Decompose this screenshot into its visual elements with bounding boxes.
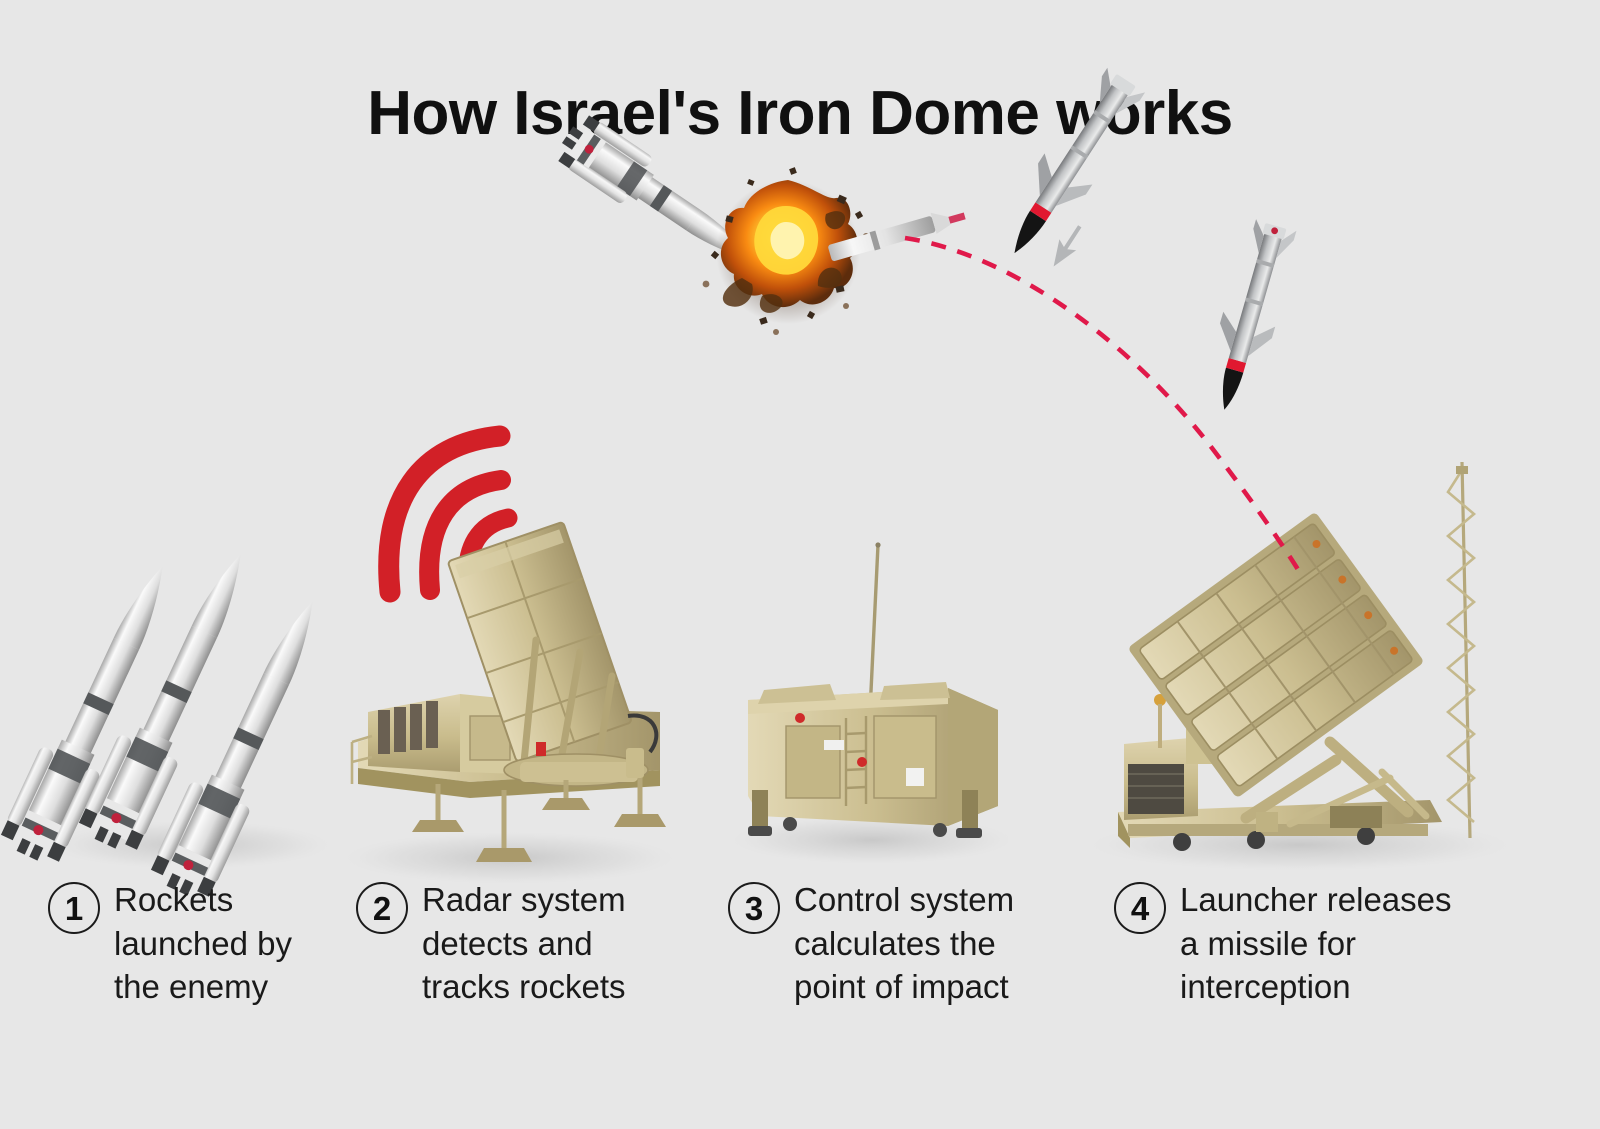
caption-row: 1 Rockets launched by the enemy 2 Radar … — [0, 878, 1600, 1048]
control-antenna-mast — [870, 545, 878, 712]
radar-outrigger-pad — [614, 814, 666, 827]
control-label-plate — [824, 740, 844, 750]
trajectory-direction-arrow — [1045, 221, 1088, 272]
caption-text: Control system calculates the point of i… — [794, 878, 1014, 1009]
caption-number-badge: 4 — [1114, 882, 1166, 934]
caption-text: Launcher releases a missile for intercep… — [1180, 878, 1452, 1009]
control-unit — [748, 542, 998, 838]
radar-outrigger-pad — [476, 848, 532, 862]
caption-number-badge: 3 — [728, 882, 780, 934]
interceptor-trajectory — [905, 238, 1302, 576]
radar-outrigger-pad — [412, 820, 464, 832]
radar-indicator-light — [536, 742, 546, 756]
infographic-canvas: How Israel's Iron Dome works — [0, 0, 1600, 1129]
control-logo-plate — [906, 768, 924, 786]
radar-outrigger-pad — [542, 798, 590, 810]
caption-text: Rockets launched by the enemy — [114, 878, 292, 1009]
caption-launcher-releases: 4 Launcher releases a missile for interc… — [1114, 878, 1534, 1009]
launcher-unit — [1118, 462, 1474, 851]
caption-number-badge: 2 — [356, 882, 408, 934]
caption-text: Radar system detects and tracks rockets — [422, 878, 626, 1009]
interceptor-missile-lower — [1197, 218, 1302, 417]
caption-number-badge: 1 — [48, 882, 100, 934]
control-indicator-light — [795, 713, 805, 723]
caption-rockets-launched: 1 Rockets launched by the enemy — [48, 878, 348, 1009]
caption-radar-detects: 2 Radar system detects and tracks rocket… — [356, 878, 686, 1009]
control-indicator-light — [857, 757, 867, 767]
caption-control-calculates: 3 Control system calculates the point of… — [728, 878, 1068, 1009]
